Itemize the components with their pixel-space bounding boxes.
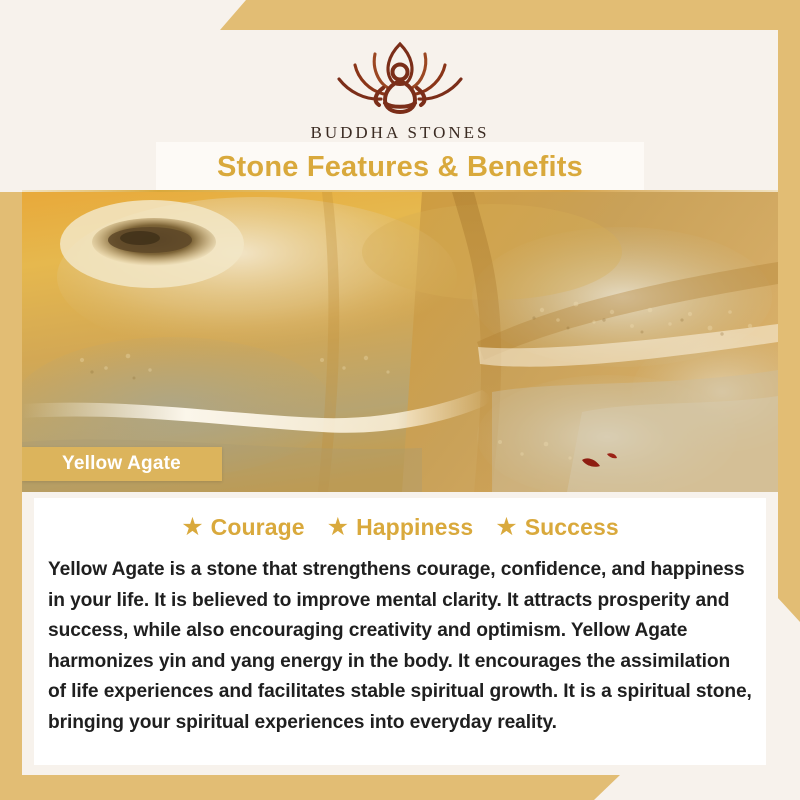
page-sheet: BUDDHA STONES Stone Features & Benefits <box>22 30 778 775</box>
keyword-happiness: ★ Happiness <box>327 514 474 541</box>
brand-header: BUDDHA STONES <box>22 30 778 160</box>
frame-band-right-tip <box>778 598 800 622</box>
benefits-description: Yellow Agate is a stone that strengthens… <box>48 555 752 738</box>
lotus-meditation-figure-icon <box>325 38 475 120</box>
frame-band-top <box>220 0 800 30</box>
keyword-label: Success <box>525 514 619 541</box>
keyword-success: ★ Success <box>495 514 618 541</box>
brand-name: BUDDHA STONES <box>311 123 490 143</box>
star-icon: ★ <box>181 515 203 540</box>
keyword-label: Courage <box>211 514 305 541</box>
frame-band-bottom <box>0 775 620 800</box>
stone-photo: Yellow Agate <box>22 192 778 492</box>
keyword-label: Happiness <box>356 514 473 541</box>
keyword-row: ★ Courage ★ Happiness ★ Success <box>34 498 766 541</box>
title-banner: Stone Features & Benefits <box>156 142 644 192</box>
frame-band-left <box>0 192 22 782</box>
stone-name-label: Yellow Agate <box>22 447 222 481</box>
infographic-page: BUDDHA STONES Stone Features & Benefits <box>0 0 800 800</box>
page-title: Stone Features & Benefits <box>217 151 583 184</box>
star-icon: ★ <box>327 515 349 540</box>
frame-band-right <box>778 0 800 620</box>
star-icon: ★ <box>495 515 517 540</box>
stone-name-text: Yellow Agate <box>62 453 181 475</box>
benefits-card: ★ Courage ★ Happiness ★ Success Yellow A… <box>34 498 766 765</box>
keyword-courage: ★ Courage <box>181 514 304 541</box>
